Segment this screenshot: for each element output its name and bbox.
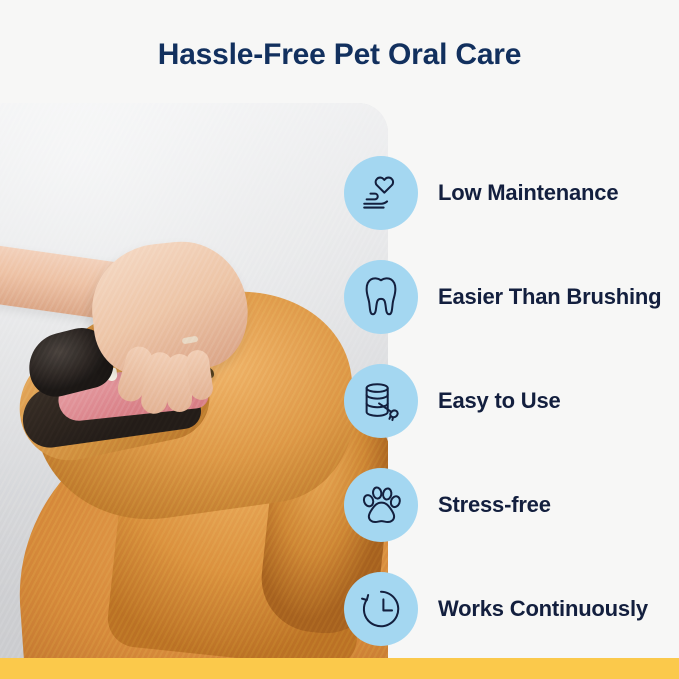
feature-label: Easier Than Brushing [438,283,661,312]
infographic-card: Hassle-Free Pet Oral Care [0,0,679,679]
feature-item-low-maintenance: Low Maintenance [344,141,674,245]
product-photo [0,103,388,659]
hand-heart-icon [344,156,418,230]
feature-label: Easy to Use [438,387,561,416]
clock-arrow-icon [344,572,418,646]
accent-bar [0,658,679,679]
feature-item-works-continuously: Works Continuously [344,557,674,661]
feature-item-stress-free: Stress-free [344,453,674,557]
tooth-icon [344,260,418,334]
jar-with-scoop-icon [344,364,418,438]
feature-item-easy-to-use: Easy to Use [344,349,674,453]
feature-item-easier-than-brushing: Easier Than Brushing [344,245,674,349]
paw-print-icon [344,468,418,542]
feature-label: Low Maintenance [438,179,618,208]
page-title: Hassle-Free Pet Oral Care [0,38,679,73]
feature-label: Stress-free [438,491,551,520]
feature-list: Low Maintenance Easier Than Brushing [344,141,674,661]
feature-label: Works Continuously [438,595,648,624]
